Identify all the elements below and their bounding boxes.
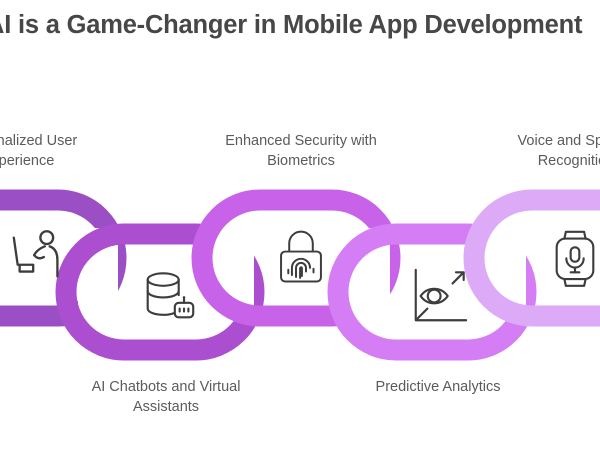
padlock-fingerprint-icon xyxy=(272,228,330,286)
person-at-desk-icon xyxy=(8,226,70,288)
smartwatch-microphone-icon xyxy=(548,228,600,286)
infographic-canvas: AI is a Game-Changer in Mobile App Devel… xyxy=(0,0,600,452)
eye-chart-trend-icon xyxy=(408,266,470,328)
chain-link-label-predictive-analytics: Predictive Analytics xyxy=(340,377,536,397)
chain-link-label-enhanced-security-with-biometrics: Enhanced Security with Biometrics xyxy=(206,131,396,171)
chain-link-label-personalized-user-experience: Personalized User Experience xyxy=(0,131,108,171)
chain-link-label-voice-and-speech-recognition: Voice and Speech Recognition xyxy=(486,131,600,171)
chain-link-label-ai-chatbots-and-virtual-assistants: AI Chatbots and Virtual Assistants xyxy=(68,377,264,417)
page-title: AI is a Game-Changer in Mobile App Devel… xyxy=(0,8,600,42)
database-chatbot-icon xyxy=(138,266,200,328)
